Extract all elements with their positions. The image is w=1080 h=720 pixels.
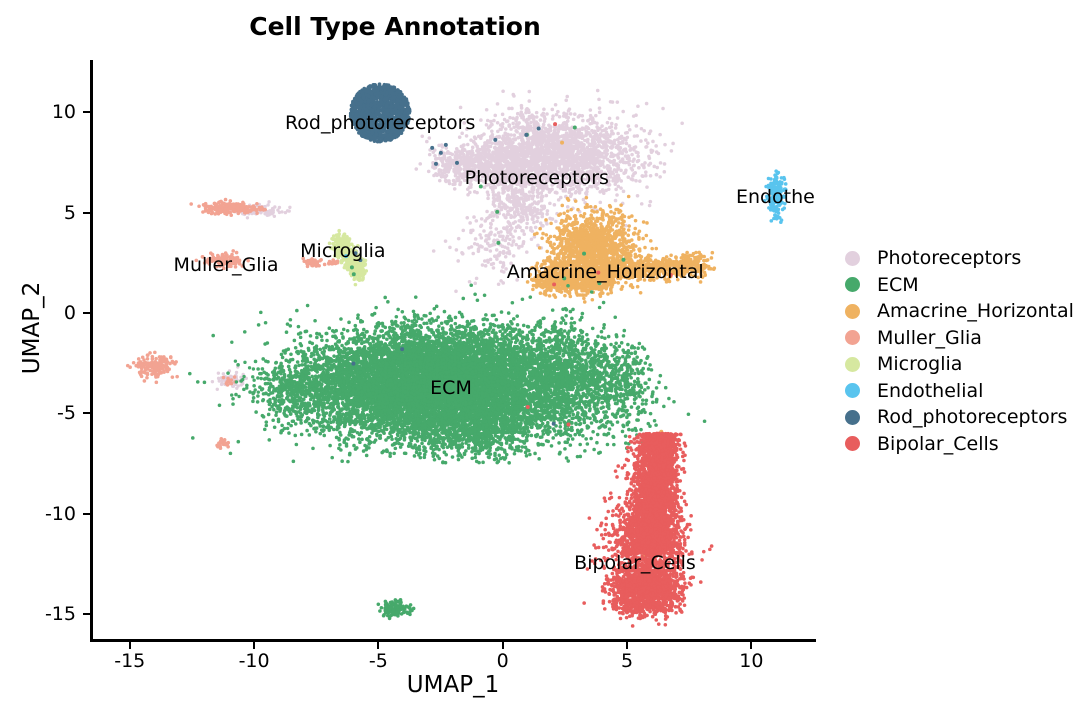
legend-item-ecm[interactable]: ECM: [845, 272, 1080, 299]
legend-label: Endothelial: [877, 380, 983, 402]
legend-item-muller-glia[interactable]: Muller_Glia: [845, 325, 1080, 352]
x-tick-label: 10: [739, 650, 763, 672]
legend-label: Photoreceptors: [877, 247, 1021, 269]
legend-swatch-icon: [845, 357, 860, 372]
page-title: Cell Type Annotation: [0, 12, 790, 41]
y-tick-mark: [83, 613, 90, 615]
y-tick-label: 10: [18, 101, 76, 123]
legend-item-rod-photoreceptors[interactable]: Rod_photoreceptors: [845, 404, 1080, 431]
y-tick-label: -15: [18, 603, 76, 625]
x-tick-label: -10: [239, 650, 270, 672]
y-tick-label: 5: [18, 202, 76, 224]
legend-swatch-icon: [845, 304, 860, 319]
x-tick-label: -5: [369, 650, 388, 672]
y-tick-mark: [83, 412, 90, 414]
legend-swatch-icon: [845, 383, 860, 398]
x-tick-mark: [750, 642, 752, 649]
y-axis-label: UMAP_2: [19, 228, 45, 428]
legend-label: Rod_photoreceptors: [877, 406, 1067, 428]
x-tick-label: -15: [114, 650, 145, 672]
legend-item-bipolar-cells[interactable]: Bipolar_Cells: [845, 431, 1080, 458]
legend-swatch-icon: [845, 410, 860, 425]
legend-label: Muller_Glia: [877, 327, 982, 349]
legend-label: Amacrine_Horizontal: [877, 300, 1074, 322]
x-tick-label: 5: [621, 650, 633, 672]
x-tick-label: 0: [497, 650, 509, 672]
legend-swatch-icon: [845, 436, 860, 451]
x-tick-mark: [129, 642, 131, 649]
y-tick-mark: [83, 513, 90, 515]
legend-item-amacrine-horizontal[interactable]: Amacrine_Horizontal: [845, 298, 1080, 325]
legend-swatch-icon: [845, 277, 860, 292]
legend-item-photoreceptors[interactable]: Photoreceptors: [845, 245, 1080, 272]
x-axis-label: UMAP_1: [90, 672, 816, 698]
legend-label: ECM: [877, 274, 919, 296]
legend: PhotoreceptorsECMAmacrine_HorizontalMull…: [845, 245, 1080, 457]
x-tick-mark: [626, 642, 628, 649]
y-tick-mark: [83, 111, 90, 113]
legend-label: Bipolar_Cells: [877, 433, 999, 455]
x-tick-mark: [253, 642, 255, 649]
legend-label: Microglia: [877, 353, 962, 375]
plot-area: Rod_photoreceptorsPhotoreceptorsEndothel…: [90, 60, 816, 642]
y-tick-mark: [83, 212, 90, 214]
legend-swatch-icon: [845, 251, 860, 266]
scatter-canvas: [93, 60, 816, 639]
legend-swatch-icon: [845, 330, 860, 345]
y-tick-mark: [83, 312, 90, 314]
legend-item-endothelial[interactable]: Endothelial: [845, 378, 1080, 405]
umap-figure: Cell Type Annotation Rod_photoreceptorsP…: [0, 0, 1080, 720]
legend-item-microglia[interactable]: Microglia: [845, 351, 1080, 378]
x-tick-mark: [502, 642, 504, 649]
y-tick-label: -10: [18, 503, 76, 525]
x-tick-mark: [377, 642, 379, 649]
